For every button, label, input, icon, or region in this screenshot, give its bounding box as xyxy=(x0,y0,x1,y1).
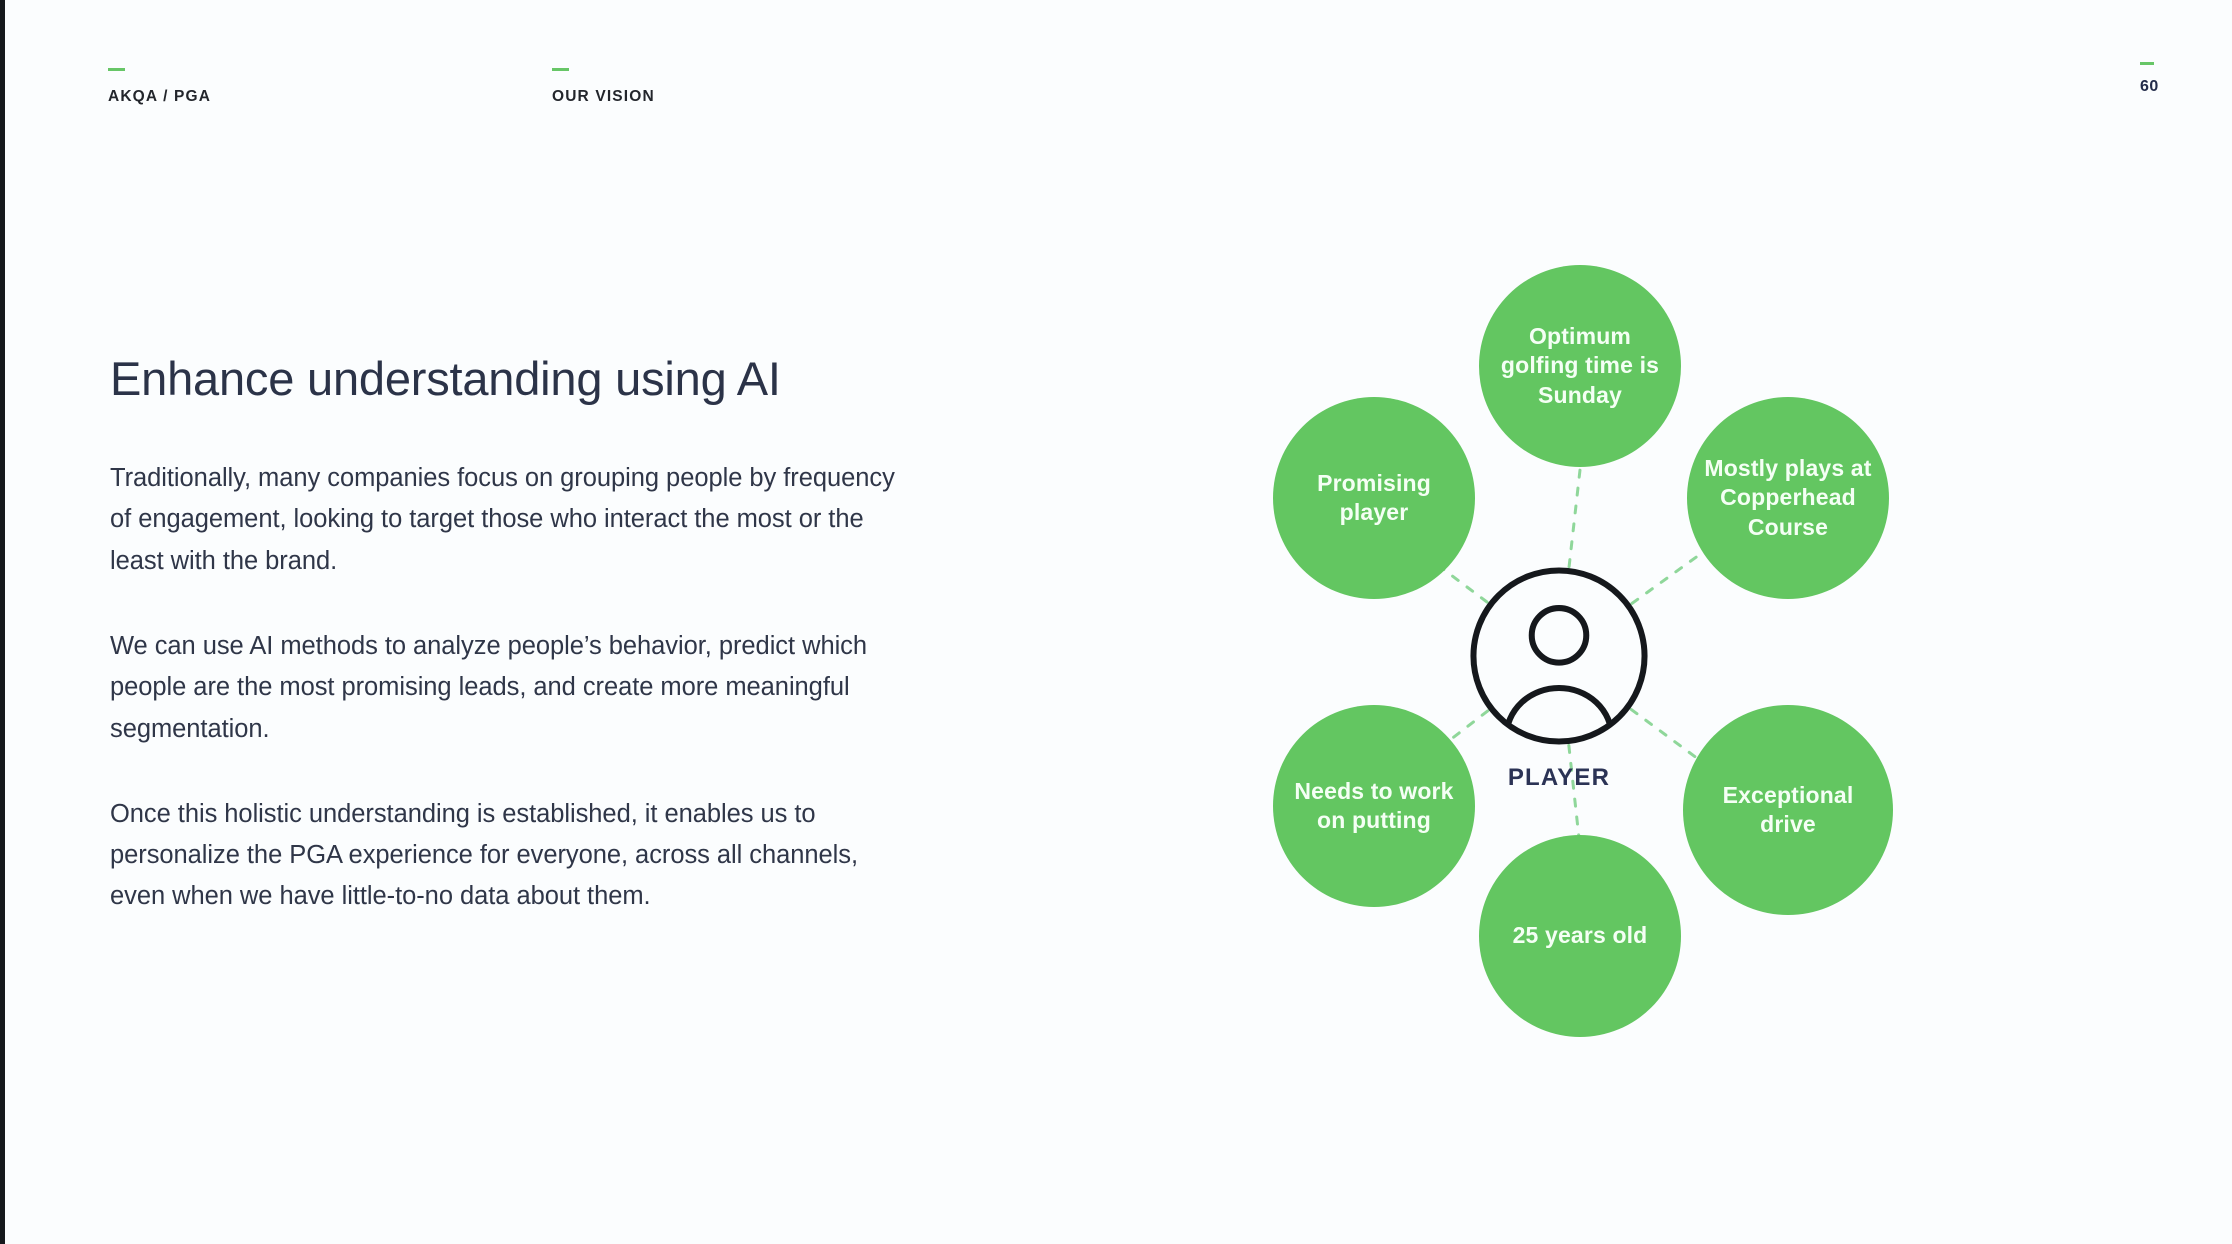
header-page-number: 60 xyxy=(2140,62,2159,96)
bubble-label: Promising player xyxy=(1289,469,1459,528)
body-paragraph-1: Traditionally, many companies focus on g… xyxy=(110,458,900,582)
bubble-optimum-time[interactable]: Optimum golfing time is Sunday xyxy=(1479,265,1681,467)
dash-icon xyxy=(108,68,125,71)
bubble-course[interactable]: Mostly plays at Copperhead Course xyxy=(1687,397,1889,599)
copy-column: Enhance understanding using AI Tradition… xyxy=(110,352,900,918)
header-brand: AKQA / PGA xyxy=(108,68,211,106)
slide-header: AKQA / PGA OUR VISION 60 xyxy=(0,0,2232,150)
bubble-label: Optimum golfing time is Sunday xyxy=(1495,322,1665,410)
bubble-label: Mostly plays at Copperhead Course xyxy=(1703,454,1873,542)
header-brand-label: AKQA / PGA xyxy=(108,88,211,106)
bubble-putting[interactable]: Needs to work on putting xyxy=(1273,705,1475,907)
center-player-node[interactable]: PLAYER xyxy=(1465,562,1653,792)
header-section-label: OUR VISION xyxy=(552,88,655,106)
bubble-drive[interactable]: Exceptional drive xyxy=(1683,705,1893,915)
left-edge-rule xyxy=(0,0,5,1244)
bubble-label: Exceptional drive xyxy=(1699,781,1877,840)
bubble-label: 25 years old xyxy=(1513,921,1648,950)
page-number-label: 60 xyxy=(2140,78,2159,96)
dash-icon xyxy=(552,68,569,71)
header-section: OUR VISION xyxy=(552,68,655,106)
bubble-label: Needs to work on putting xyxy=(1289,777,1459,836)
page-title: Enhance understanding using AI xyxy=(110,352,900,406)
dash-icon xyxy=(2140,62,2154,65)
person-avatar-icon xyxy=(1465,562,1653,750)
bubble-age[interactable]: 25 years old xyxy=(1479,835,1681,1037)
slide-canvas: AKQA / PGA OUR VISION 60 Enhance underst… xyxy=(0,0,2232,1244)
body-paragraph-2: We can use AI methods to analyze people’… xyxy=(110,626,900,750)
body-paragraph-3: Once this holistic understanding is esta… xyxy=(110,794,900,918)
bubble-promising-player[interactable]: Promising player xyxy=(1273,397,1475,599)
center-node-label: PLAYER xyxy=(1465,764,1653,792)
player-profile-diagram: Optimum golfing time is Sunday Mostly pl… xyxy=(1165,225,2005,1085)
